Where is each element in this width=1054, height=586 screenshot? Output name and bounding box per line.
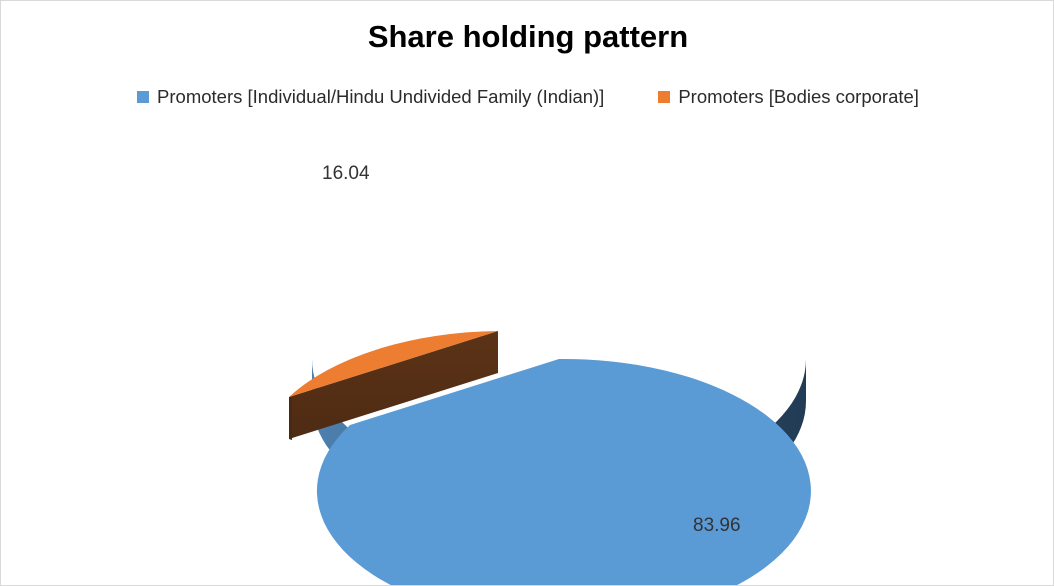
chart-title: Share holding pattern — [1, 19, 1054, 55]
legend-label-promoters-individual: Promoters [Individual/Hindu Undivided Fa… — [157, 86, 604, 108]
legend-label-promoters-bodies-corporate: Promoters [Bodies corporate] — [678, 86, 919, 108]
chart-legend: Promoters [Individual/Hindu Undivided Fa… — [1, 86, 1054, 108]
legend-item-promoters-bodies-corporate[interactable]: Promoters [Bodies corporate] — [658, 86, 919, 108]
chart-canvas: Share holding pattern Promoters [Individ… — [0, 0, 1054, 586]
pie-3d-svg — [1, 131, 1054, 586]
legend-swatch-orange-icon — [658, 91, 670, 103]
data-label-orange-slice: 16.04 — [322, 163, 370, 185]
data-label-blue-slice: 83.96 — [693, 515, 741, 537]
legend-swatch-blue-icon — [137, 91, 149, 103]
legend-item-promoters-individual[interactable]: Promoters [Individual/Hindu Undivided Fa… — [137, 86, 604, 108]
pie-chart-area: 16.04 83.96 — [1, 131, 1054, 586]
pie-slice-orange-end-wall — [289, 397, 292, 440]
